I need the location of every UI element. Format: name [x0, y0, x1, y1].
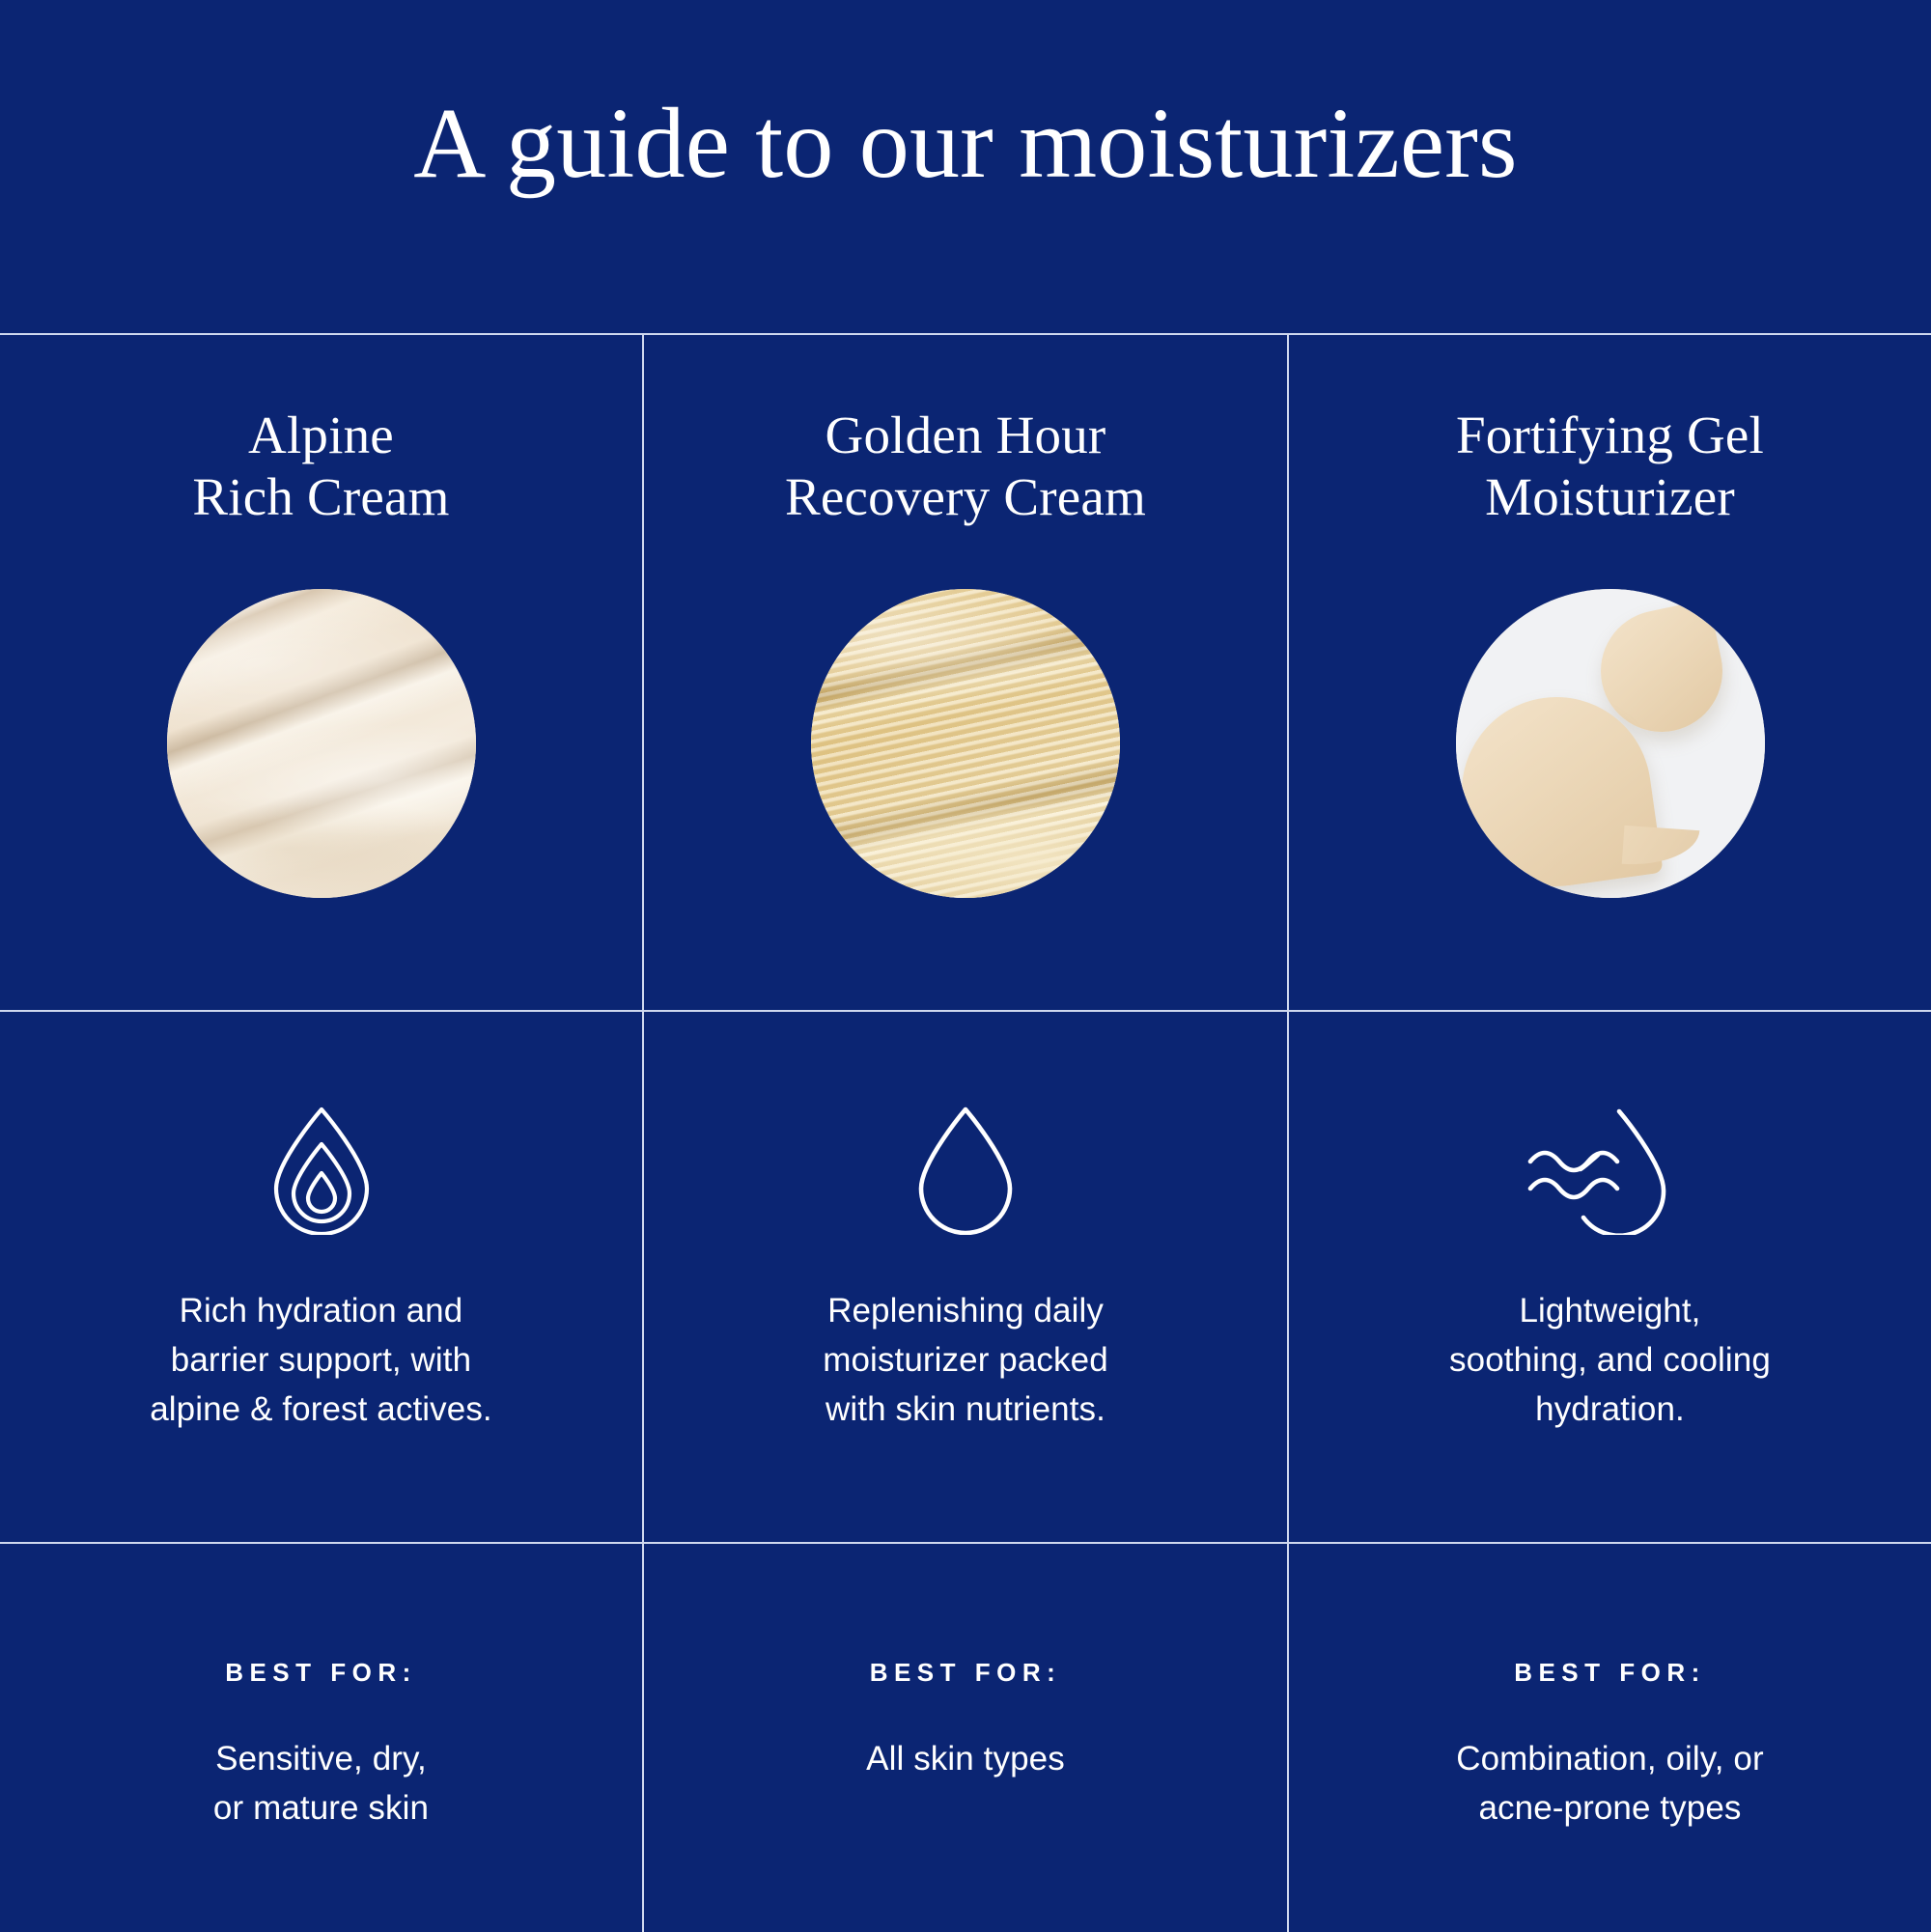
droplet-icon — [910, 1101, 1021, 1236]
best-for-label-3: BEST FOR: — [1514, 1658, 1706, 1688]
product-name-3: Fortifying Gel Moisturizer — [1456, 405, 1764, 529]
page-title: A guide to our moisturizers — [413, 91, 1517, 196]
product-description-2: Replenishing daily moisturizer packed wi… — [823, 1286, 1108, 1434]
product-name-2: Golden Hour Recovery Cream — [785, 405, 1146, 529]
swatch-texture-3 — [1456, 589, 1765, 898]
moisturizer-guide-infographic: A guide to our moisturizers Alpine Rich … — [0, 0, 1931, 1932]
product-description-1: Rich hydration and barrier support, with… — [150, 1286, 492, 1434]
swatch-texture-2 — [811, 589, 1120, 898]
product-cell-2-header: Golden Hour Recovery Cream — [644, 333, 1287, 1010]
product-cell-2-bestfor: BEST FOR: All skin types — [644, 1544, 1287, 1932]
best-for-label-2: BEST FOR: — [870, 1658, 1062, 1688]
cream-texture-swatch — [167, 589, 476, 898]
best-for-label-1: BEST FOR: — [225, 1658, 417, 1688]
swatch-texture-1 — [167, 589, 476, 898]
product-cell-1-header: Alpine Rich Cream — [0, 333, 642, 1010]
best-for-value-1: Sensitive, dry, or mature skin — [213, 1734, 429, 1833]
product-name-1: Alpine Rich Cream — [192, 405, 449, 529]
product-cell-3-benefit: Lightweight, soothing, and cooling hydra… — [1289, 1012, 1931, 1542]
product-description-3: Lightweight, soothing, and cooling hydra… — [1449, 1286, 1771, 1434]
product-cell-3-bestfor: BEST FOR: Combination, oily, or acne-pro… — [1289, 1544, 1931, 1932]
best-for-value-3: Combination, oily, or acne-prone types — [1456, 1734, 1764, 1833]
cooling-droplet-waves-icon — [1519, 1101, 1702, 1236]
golden-cream-texture-swatch — [811, 589, 1120, 898]
product-cell-2-benefit: Replenishing daily moisturizer packed wi… — [644, 1012, 1287, 1542]
gel-droplets-swatch — [1456, 589, 1765, 898]
header-band: A guide to our moisturizers — [0, 0, 1931, 333]
product-cell-1-bestfor: BEST FOR: Sensitive, dry, or mature skin — [0, 1544, 642, 1932]
nested-droplet-icon — [263, 1101, 380, 1236]
best-for-value-2: All skin types — [866, 1734, 1065, 1783]
product-cell-3-header: Fortifying Gel Moisturizer — [1289, 333, 1931, 1010]
product-cell-1-benefit: Rich hydration and barrier support, with… — [0, 1012, 642, 1542]
